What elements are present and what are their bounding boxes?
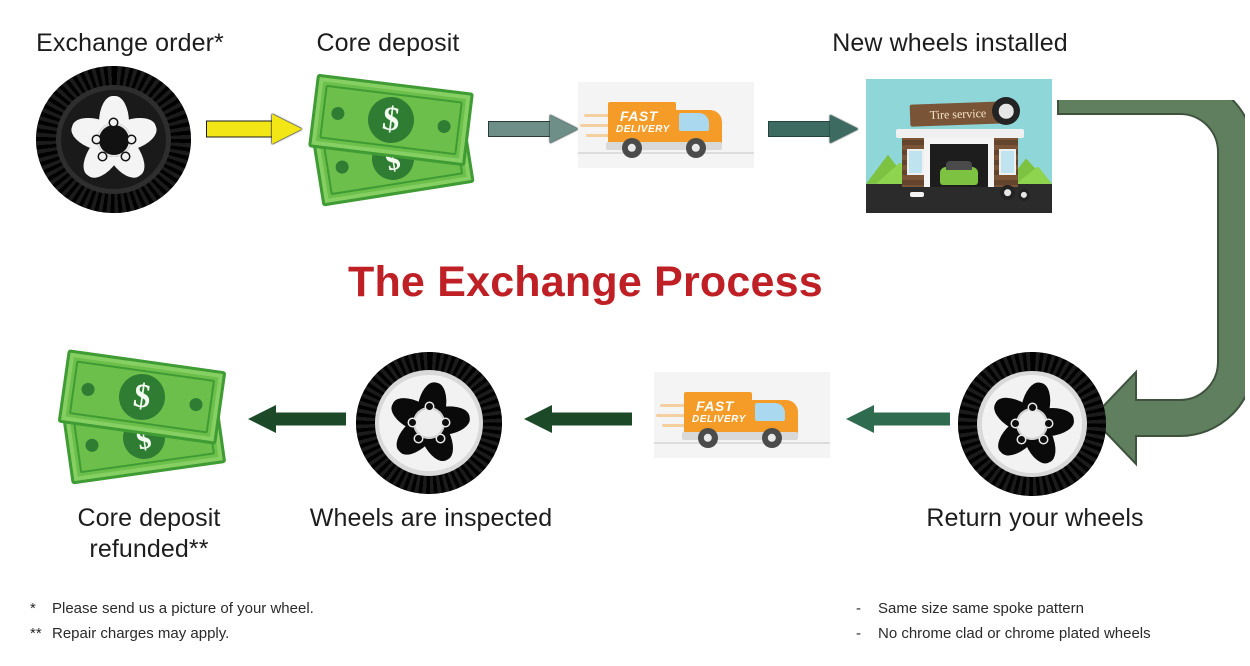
garage-window: [907, 149, 924, 175]
footnote-row: -No chrome clad or chrome plated wheels: [856, 621, 1250, 646]
truck-text-delivery: DELIVERY: [616, 124, 670, 135]
wheel-rim-face: [61, 90, 166, 190]
footnote-marker: -: [856, 596, 878, 621]
lug-nut: [1045, 420, 1052, 427]
lug-nut: [1012, 420, 1019, 427]
arrow-shaft: [550, 413, 632, 426]
footnotes-left: *Please send us a picture of your wheel.…: [30, 596, 530, 646]
lug-nut: [99, 153, 106, 160]
label-core-deposit-refunded: Core deposit refunded**: [38, 503, 260, 565]
arrow-inspected-to-refund: [248, 402, 348, 436]
arrow-head: [272, 114, 302, 144]
lug-nut: [93, 136, 100, 143]
label-exchange-order: Exchange order*: [10, 28, 250, 59]
footnote-text: Same size same spoke pattern: [878, 600, 1084, 617]
truck-windshield: [755, 403, 785, 421]
truck-windshield: [679, 113, 709, 131]
truck-wheel: [686, 138, 706, 158]
spare-tire: [1000, 185, 1015, 200]
lug-nut: [1018, 436, 1025, 443]
label-core-deposit: Core deposit: [288, 28, 488, 59]
road-line: [578, 152, 754, 154]
lug-nut: [437, 435, 444, 442]
arrow-shaft: [274, 413, 346, 426]
lug-nut: [415, 435, 422, 442]
curb-object: [910, 192, 924, 197]
lug-nut: [110, 119, 117, 126]
sign-tire-icon: [992, 97, 1020, 125]
wheel-icon-inspected: [356, 352, 502, 494]
truck-text-fast: FAST: [620, 108, 658, 124]
truck-wheel: [622, 138, 642, 158]
arrow-deposit-to-truck: [488, 112, 580, 146]
truck-text-delivery: DELIVERY: [692, 414, 746, 425]
wheel-rim-face: [379, 375, 478, 472]
wheel-rim-face: [982, 375, 1083, 473]
money-icon-refund: $ $: [58, 352, 238, 484]
footnote-row: -Same size same spoke pattern: [856, 596, 1250, 621]
arrow-head: [248, 405, 276, 433]
money-icon-core-deposit: $ $: [310, 75, 485, 205]
lug-nut: [122, 153, 129, 160]
footnote-marker: -: [856, 621, 878, 646]
garage-roof: [896, 129, 1024, 138]
footnote-marker: **: [30, 621, 52, 646]
footnote-marker: *: [30, 596, 52, 621]
delivery-truck-icon-outbound: FAST DELIVERY: [578, 82, 754, 168]
lug-nut: [409, 419, 416, 426]
footnote-row: *Please send us a picture of your wheel.: [30, 596, 530, 621]
page-title: The Exchange Process: [348, 258, 823, 307]
arrow-truck-to-garage: [768, 112, 860, 146]
lug-nut: [426, 403, 433, 410]
garage-window: [999, 149, 1016, 175]
arrow-head: [550, 115, 578, 143]
footnotes-right: -Same size same spoke pattern -No chrome…: [856, 596, 1250, 646]
label-return-your-wheels: Return your wheels: [900, 503, 1170, 534]
wheel-icon-exchange-order: [36, 66, 191, 213]
road-line: [654, 442, 830, 444]
lug-nut: [1040, 436, 1047, 443]
exchange-process-infographic: Exchange order* Core deposit New wheels …: [0, 0, 1250, 666]
arrow-shaft: [206, 121, 278, 138]
lug-nut: [1029, 404, 1036, 411]
label-wheels-inspected: Wheels are inspected: [300, 503, 562, 534]
wheel-icon-return: [958, 352, 1106, 496]
car-windshield: [946, 161, 972, 170]
arrow-order-to-deposit: [206, 112, 302, 146]
lug-nut: [128, 136, 135, 143]
arrow-head: [846, 405, 874, 433]
tire-service-garage-icon: Tire service: [866, 79, 1052, 213]
arrow-return-to-truck: [846, 402, 952, 436]
arrow-shaft: [768, 121, 836, 137]
footnote-text: Please send us a picture of your wheel.: [52, 600, 314, 617]
footnote-row: **Repair charges may apply.: [30, 621, 530, 646]
lug-nut: [442, 419, 449, 426]
truck-wheel: [698, 428, 718, 448]
arrow-truck-to-inspected: [524, 402, 634, 436]
arrow-head: [524, 405, 552, 433]
delivery-truck-icon-return: FAST DELIVERY: [654, 372, 830, 458]
arrow-shaft: [488, 121, 556, 137]
label-new-wheels-installed: New wheels installed: [800, 28, 1100, 59]
wheel-hub: [97, 123, 131, 157]
arrow-head: [830, 115, 858, 143]
spare-tire: [1018, 189, 1030, 201]
truck-wheel: [762, 428, 782, 448]
truck-text-fast: FAST: [696, 398, 734, 414]
footnote-text: No chrome clad or chrome plated wheels: [878, 625, 1151, 642]
footnote-text: Repair charges may apply.: [52, 625, 229, 642]
arrow-shaft: [872, 413, 950, 426]
